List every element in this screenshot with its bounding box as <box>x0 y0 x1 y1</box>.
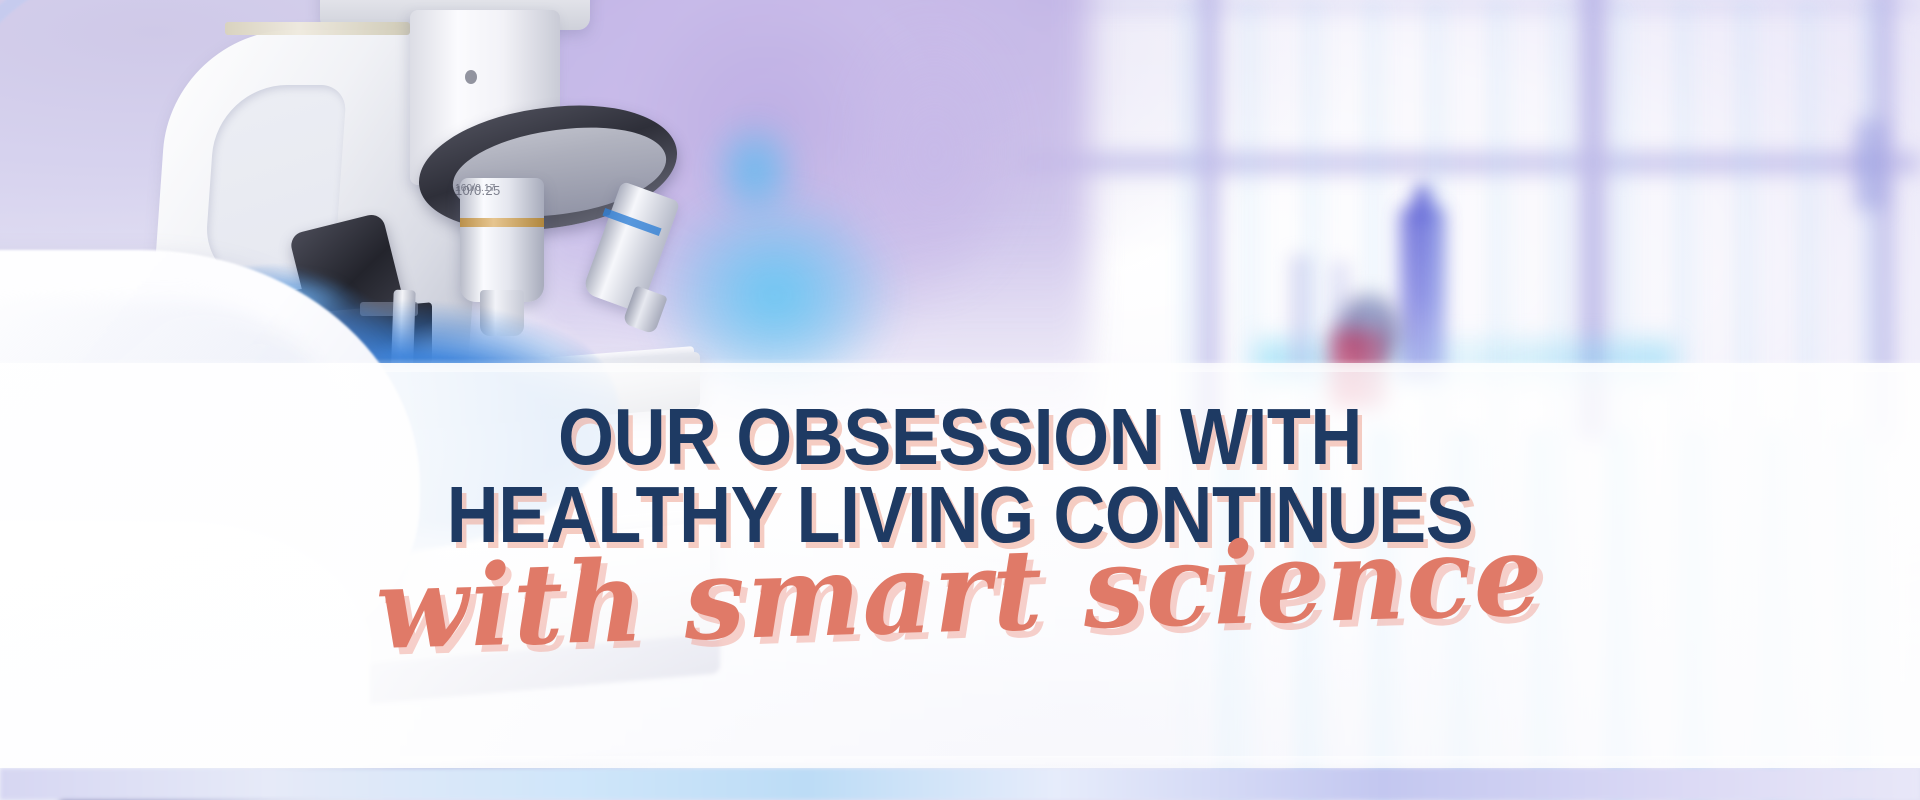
microscope-head <box>320 0 590 30</box>
band-top-feather <box>0 358 1920 372</box>
microscope-objective-secondary-tip <box>622 285 668 334</box>
blurred-technician-arm <box>840 20 1050 350</box>
band-bottom-feather <box>0 756 1920 770</box>
microscope-arm <box>148 30 491 360</box>
blurred-bottle-neck <box>1414 185 1432 219</box>
microscope-arm-plate <box>225 22 410 35</box>
cyan-glassware-glow-secondary <box>690 95 820 245</box>
microscope-slide-clip <box>360 302 418 316</box>
blurred-bottle-dark <box>1338 295 1400 367</box>
microscope-nosepiece-turret <box>411 90 685 245</box>
blurred-bottle-blue <box>1400 205 1444 380</box>
blurred-bottle-pale-1 <box>1290 255 1312 375</box>
microscope-coarse-focus-knob <box>288 212 407 340</box>
bottom-color-strip <box>0 768 1920 800</box>
microscope-column <box>410 10 560 185</box>
objective-tube-spec-text: 160/0.17 <box>455 184 496 195</box>
microscope-objective-secondary <box>582 181 681 313</box>
microscope-fine-focus-knob <box>257 284 339 360</box>
microscope-objective-primary-band <box>460 218 544 227</box>
objective-magnification-text: 10/0.25 <box>455 184 500 198</box>
microscope-arm-cutout <box>203 85 347 285</box>
microscope-objective-secondary-band <box>602 208 661 236</box>
headline-line-1: OUR OBSESSION WITH <box>96 400 1824 474</box>
hero-text-block: OUR OBSESSION WITH HEALTHY LIVING CONTIN… <box>0 400 1920 649</box>
microscope-nosepiece-rim <box>447 115 672 228</box>
microscope-objective-primary <box>460 178 544 302</box>
hero-banner: 10/0.25 160/0.17 OUR OBSESSION WITH HEAL… <box>0 0 1920 800</box>
blue-glove-knuckles <box>215 268 395 328</box>
microscope-cable <box>0 0 342 362</box>
microscope-column-screw <box>465 70 477 84</box>
microscope-objective-primary-tip <box>480 290 524 336</box>
blurred-bottle-far-right <box>1855 120 1885 210</box>
